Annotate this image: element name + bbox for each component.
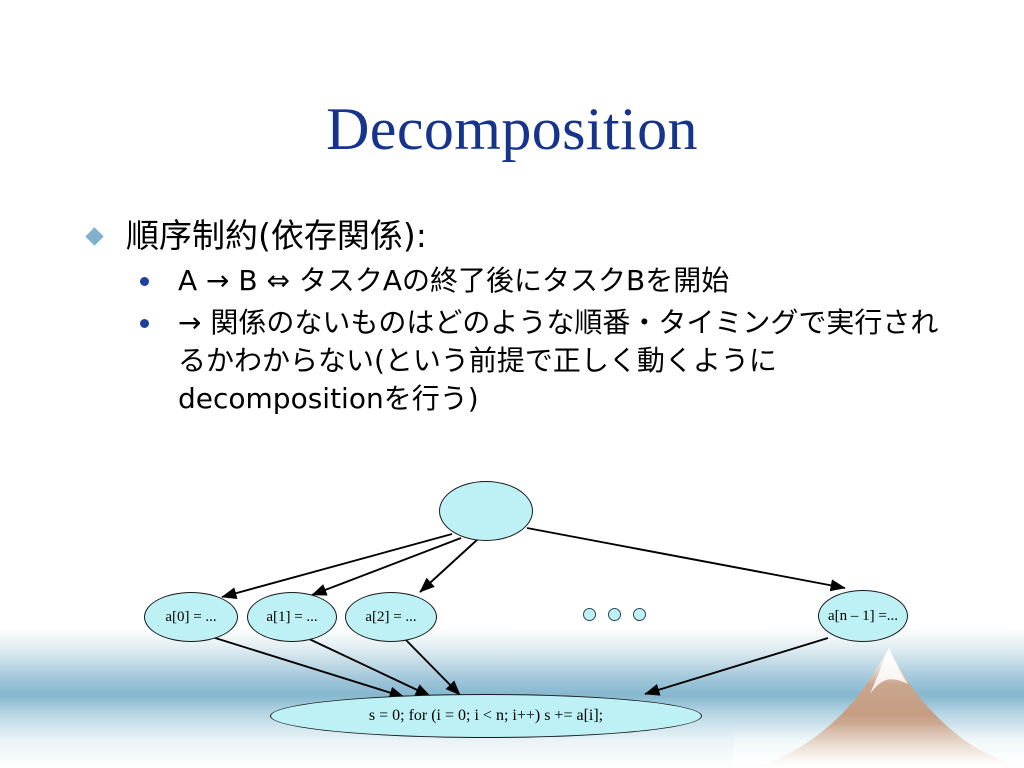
tree-node-sink[interactable]: s = 0; for (i = 0; i < n; i++) s += a[i]…: [270, 694, 702, 738]
ellipsis-circles-icon: [583, 608, 646, 621]
edge-a2-to-sink: [404, 638, 460, 695]
tree-node-a2[interactable]: a[2] = ...: [345, 592, 437, 642]
edge-root-to-a2: [420, 539, 478, 592]
ellipsis-circle-icon: [608, 608, 621, 621]
tree-node-an-label: a[n – 1] =...: [819, 608, 907, 625]
tree-node-an[interactable]: a[n – 1] =...: [818, 590, 908, 642]
ellipsis-circle-icon: [633, 608, 646, 621]
tree-node-a0-label: a[0] = ...: [165, 609, 216, 626]
edge-root-to-an: [527, 528, 845, 588]
edge-root-to-a0: [222, 534, 452, 597]
dependency-tree-connectors: [0, 0, 1024, 768]
tree-node-a1-label: a[1] = ...: [266, 609, 317, 626]
edge-a0-to-sink: [212, 637, 404, 697]
slide-canvas: Decomposition 順序制約(依存関係): A → B ⇔ タスクAの終…: [0, 0, 1024, 768]
tree-node-sink-label: s = 0; for (i = 0; i < n; i++) s += a[i]…: [369, 707, 603, 725]
edge-an-to-sink: [645, 638, 828, 694]
tree-node-a0[interactable]: a[0] = ...: [144, 592, 238, 642]
tree-node-root[interactable]: [439, 481, 533, 541]
tree-node-a1[interactable]: a[1] = ...: [247, 592, 337, 642]
ellipsis-circle-icon: [583, 608, 596, 621]
tree-node-a2-label: a[2] = ...: [365, 609, 416, 626]
